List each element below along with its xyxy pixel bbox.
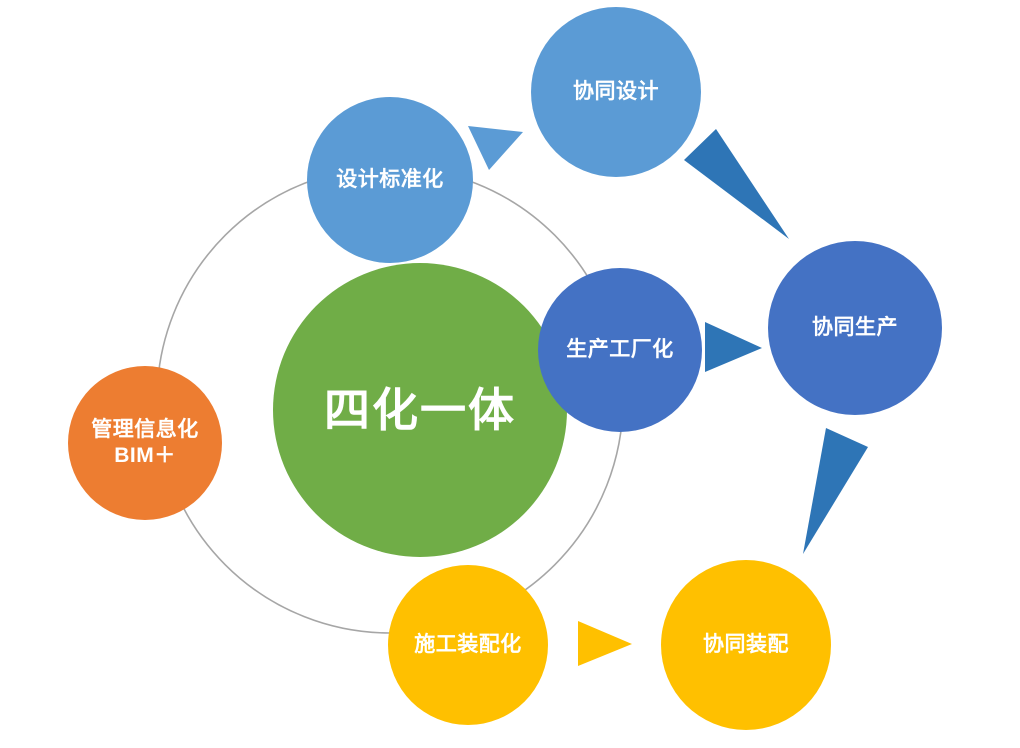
arrow-production-to-collab-production xyxy=(705,322,762,372)
arrow-collab-design-to-collab-production xyxy=(684,129,789,239)
node-circle-management-informatization[interactable] xyxy=(68,366,222,520)
arrow-construction-to-collab-assembly xyxy=(578,621,632,666)
arrow-design-to-collab-design xyxy=(468,126,523,170)
diagram-canvas: 四化一体管理信息化 BIM＋设计标准化协同设计生产工厂化协同生产施工装配化协同装… xyxy=(0,0,1020,748)
node-circle-collaborative-production[interactable] xyxy=(768,241,942,415)
node-circle-collaborative-assembly[interactable] xyxy=(661,560,831,730)
node-circle-layer xyxy=(68,7,942,730)
node-circle-center[interactable] xyxy=(273,263,567,557)
node-circle-design-standardization[interactable] xyxy=(307,97,473,263)
arrow-collab-production-to-collab-assembly xyxy=(803,428,868,554)
diagram-graphics xyxy=(0,0,1020,748)
node-circle-production-factorization[interactable] xyxy=(538,268,702,432)
node-circle-construction-assembly[interactable] xyxy=(388,565,548,725)
node-circle-collaborative-design[interactable] xyxy=(531,7,701,177)
